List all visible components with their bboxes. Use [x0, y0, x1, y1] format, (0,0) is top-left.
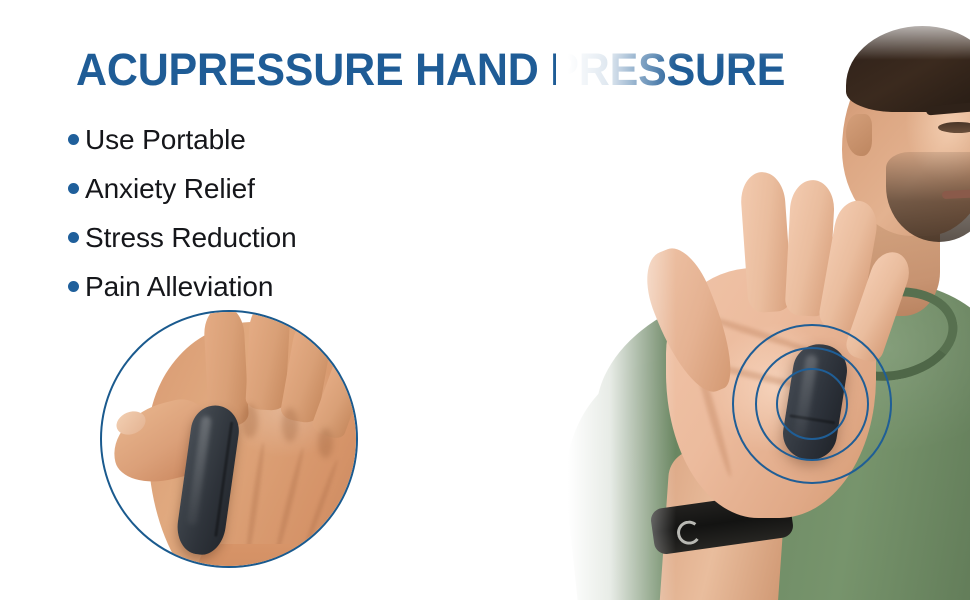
list-item: Anxiety Relief [68, 164, 488, 213]
list-item: Use Portable [68, 115, 488, 164]
bullet-dot-icon [68, 134, 79, 145]
knuckle-shadow [282, 408, 298, 442]
bullet-dot-icon [68, 183, 79, 194]
hand-closeup-circle [100, 310, 358, 568]
ear [846, 114, 872, 156]
hand-closeup-photo [102, 312, 356, 566]
photo-fade-top [556, 0, 970, 60]
feature-label: Use Portable [85, 125, 246, 155]
knuckle-shadow [318, 428, 333, 458]
mouth [942, 189, 970, 199]
product-banner: ACUPRESSURE HAND PRESSURE Use Portable A… [0, 0, 970, 600]
photo-fade-left [556, 0, 676, 600]
bullet-dot-icon [68, 232, 79, 243]
feature-label: Stress Reduction [85, 223, 297, 253]
feature-label: Anxiety Relief [85, 174, 255, 204]
device-highlight [793, 354, 818, 439]
list-item: Stress Reduction [68, 213, 488, 262]
eye [938, 122, 970, 133]
model-photo [556, 0, 970, 600]
knuckle-shadow [242, 404, 258, 438]
bullet-dot-icon [68, 281, 79, 292]
feature-label: Pain Alleviation [85, 272, 273, 302]
list-item: Pain Alleviation [68, 262, 488, 311]
feature-list: Use Portable Anxiety Relief Stress Reduc… [68, 115, 488, 311]
